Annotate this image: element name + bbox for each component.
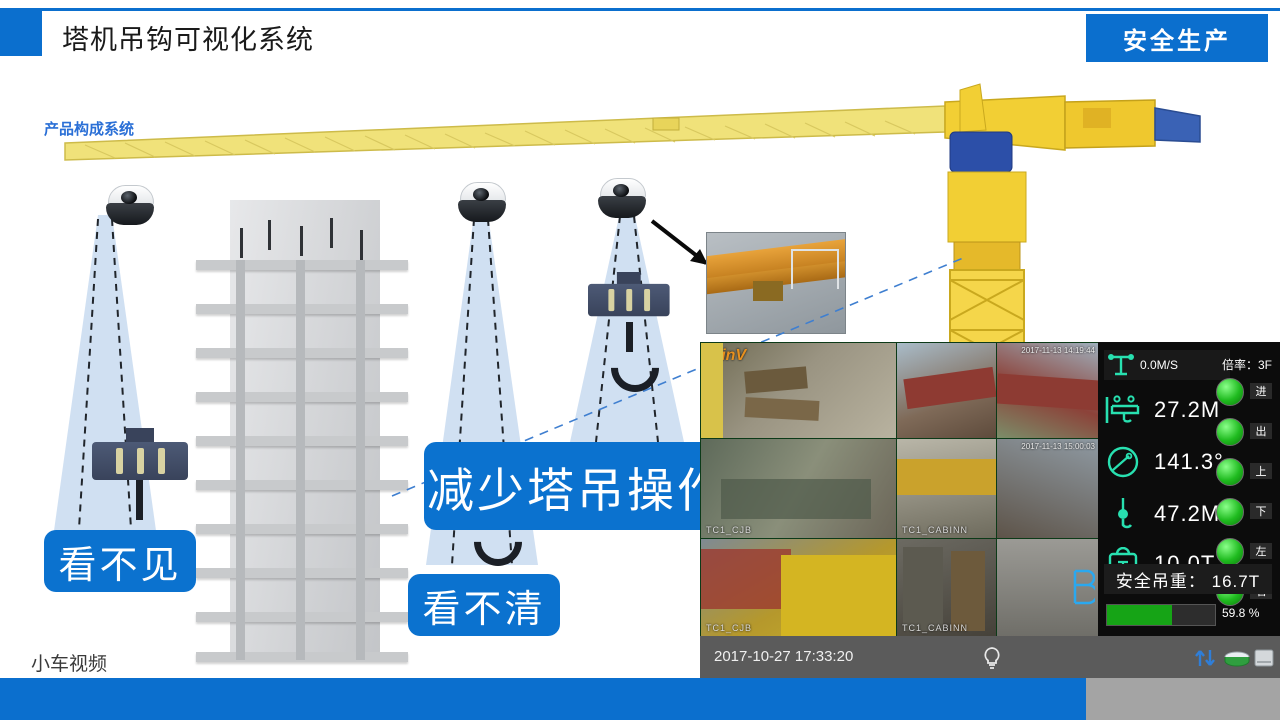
camera-view-5-timestamp: 2017-11-13 15:00:03 [1021, 442, 1095, 451]
load-progress-percent: 59.8 % [1222, 606, 1259, 620]
camera-view-6[interactable]: 2017-11-13 15:00:03 [996, 438, 1100, 540]
monitoring-display: LiinV 2017-11-13 14:19:44 TC1_CJB TC1_CA… [700, 342, 1280, 678]
indicator-lamp-left [1216, 538, 1244, 566]
camera-view-5[interactable]: TC1_CABINN [896, 438, 998, 540]
indicator-label-in: 进 [1250, 383, 1272, 399]
letter-b-overlay-icon [1071, 569, 1095, 605]
load-progress-bar [1106, 604, 1216, 626]
load-progress-fill [1107, 605, 1172, 625]
trolley-video-caption: 小车视频 [0, 649, 138, 676]
header-accent-block [0, 11, 42, 56]
crane-data-panel: 0.0M/S 倍率：3F 27.2M 141.3° [1098, 342, 1280, 636]
network-traffic-icon[interactable] [1194, 646, 1216, 670]
hook-block-3 [588, 272, 670, 323]
wind-speed-value: 0.0M/S [1140, 358, 1178, 372]
camera-view-4[interactable]: TC1_CJB [700, 438, 898, 540]
light-bulb-icon[interactable] [981, 646, 1003, 670]
camera-view-8-label: TC1_CABINN [902, 623, 968, 633]
camera-grid: LiinV 2017-11-13 14:19:44 TC1_CJB TC1_CA… [700, 342, 1098, 636]
safe-load-readout: 安全吊重： 16.7T [1104, 564, 1272, 594]
monitor-status-bar: 2017-10-27 17:33:20 [700, 636, 1280, 678]
hook-block-1 [92, 428, 188, 488]
indicator-lamp-in [1216, 378, 1244, 406]
status-timestamp: 2017-10-27 17:33:20 [714, 648, 853, 665]
product-composition-label: 产品构成系统 [44, 118, 134, 139]
callout-cannot-see-clearly: 看不清 [408, 574, 560, 636]
camera-view-7[interactable]: TC1_CJB [700, 538, 898, 638]
camera-view-9[interactable] [996, 538, 1100, 638]
building-illustration [196, 200, 408, 660]
indicator-lamp-up [1216, 458, 1244, 486]
camera-view-2[interactable] [896, 342, 998, 440]
ptz-camera-1 [104, 185, 156, 231]
ptz-camera-2 [456, 182, 508, 228]
callout-cannot-see-clearly-label: 看不清 [422, 578, 545, 633]
slew-angle-icon [1104, 445, 1144, 479]
indicator-label-up: 上 [1250, 463, 1272, 479]
camera-view-7-label: TC1_CJB [706, 623, 752, 633]
page-title: 塔机吊钩可视化系统 [62, 18, 314, 57]
hook-height-value: 47.2M [1154, 501, 1220, 527]
hook-height-icon [1104, 496, 1144, 532]
callout-cannot-see: 看不见 [44, 530, 196, 592]
indicator-lamp-down [1216, 498, 1244, 526]
header-top-rule [0, 8, 1280, 11]
callout-cannot-see-label: 看不见 [58, 534, 181, 589]
rate-label: 倍率：3F [1222, 356, 1272, 373]
camera-view-8[interactable]: TC1_CABINN [896, 538, 998, 638]
footer-grey-bar [1086, 678, 1280, 720]
storage-disk-icon[interactable] [1224, 648, 1250, 668]
safety-badge: 安全生产 [1086, 14, 1268, 62]
footer-blue-bar [0, 678, 1086, 720]
trolley-video-thumbnail[interactable] [706, 232, 846, 334]
camera-view-3[interactable]: 2017-11-13 14:19:44 [996, 342, 1100, 440]
indicator-lamp-out [1216, 418, 1244, 446]
hard-drive-icon[interactable] [1253, 646, 1275, 670]
anemometer-icon [1104, 352, 1138, 378]
camera-view-4-label: TC1_CJB [706, 525, 752, 535]
indicator-label-left: 左 [1250, 543, 1272, 559]
ptz-camera-3 [596, 178, 648, 224]
indicator-label-out: 出 [1250, 423, 1272, 439]
camera-view-3-timestamp: 2017-11-13 14:19:44 [1021, 346, 1095, 355]
camera-view-1[interactable]: LiinV [700, 342, 898, 440]
wind-speed-chip: 0.0M/S [1104, 350, 1230, 380]
camera-view-5-label: TC1_CABINN [902, 525, 968, 535]
trolley-icon [1104, 393, 1144, 427]
trolley-radius-value: 27.2M [1154, 397, 1220, 423]
slew-angle-value: 141.3° [1154, 449, 1224, 475]
indicator-label-down: 下 [1250, 503, 1272, 519]
